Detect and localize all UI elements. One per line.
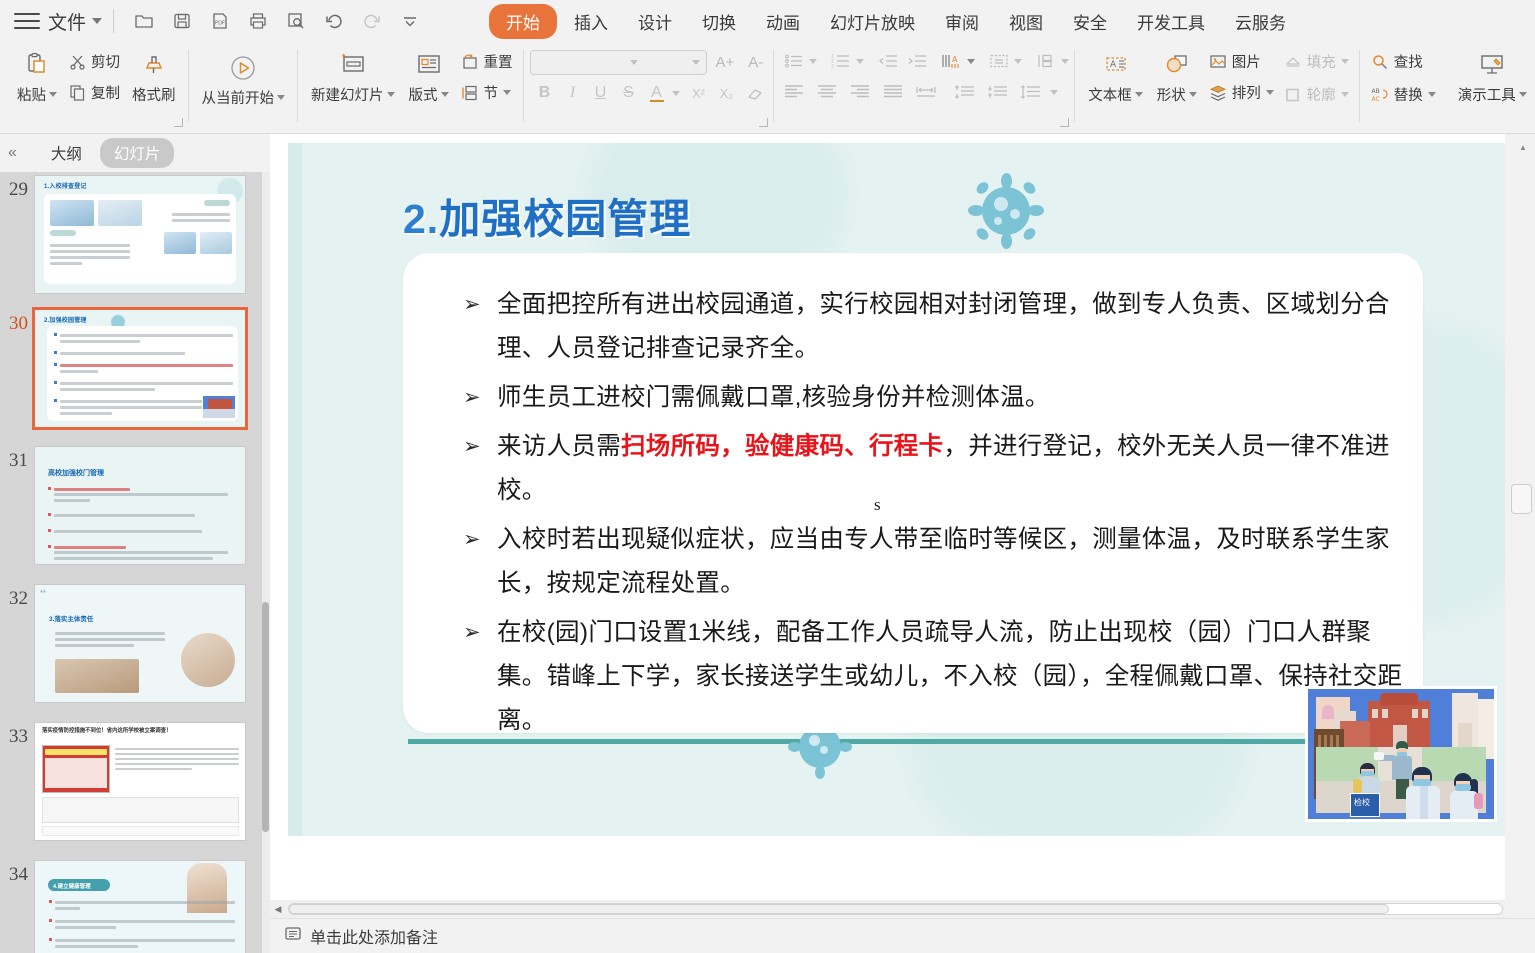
file-menu-button[interactable]: 文件 [48,8,102,35]
list-item[interactable]: 30 2.加强校园管理 [0,294,262,428]
list-item[interactable]: 33 落实疫情防控措施不到位！省内这所学校被立案调查！ [0,703,262,841]
customize-quick-access-icon[interactable] [395,6,425,36]
notes-icon [284,925,302,948]
new-slide-button[interactable]: 新建幻灯片 [304,42,402,105]
layout-icon [415,48,443,82]
font-dialog-launcher[interactable] [759,118,768,127]
chevron-down-icon [1519,92,1527,97]
tab-review[interactable]: 审阅 [932,4,992,39]
arrange-button[interactable]: 排列 [1204,79,1279,106]
format-painter-label: 格式刷 [132,84,176,105]
slide-editing-canvas[interactable]: 2.加强校园管理 [270,134,1505,900]
arrange-icon [1209,84,1227,102]
divider [113,9,114,33]
tab-outline[interactable]: 大纲 [37,138,96,168]
present-tools-icon [1477,48,1507,82]
justify-button[interactable] [879,81,906,103]
bullet-arrow-icon: ➢ [463,283,497,327]
chevron-down-icon [1135,92,1143,97]
copy-button[interactable]: 复制 [64,79,125,106]
arrange-label: 排列 [1232,82,1261,103]
align-right-button[interactable] [846,81,873,103]
bullet-text: 来访人员需扫场所码，验健康码、行程卡，并进行登记，校外无关人员一律不准进校。 [497,425,1403,513]
chevron-down-icon [1428,92,1436,97]
smartart-button[interactable] [1032,50,1059,72]
present-tools-label: 演示工具 [1458,84,1516,105]
chevron-down-icon [1189,92,1197,97]
tab-developer[interactable]: 开发工具 [1124,4,1218,39]
bullet-list[interactable]: ➢ 全面把控所有进出校园通道，实行校园相对封闭管理，做到专人负责、区域划分合理、… [463,283,1403,748]
ribbon-group-font: A+ A- B I U S A X² X₂ [524,42,775,134]
align-text-button[interactable] [985,50,1012,72]
paste-label: 粘贴 [17,84,46,105]
bullet-arrow-icon: ➢ [463,518,497,562]
tab-slides[interactable]: 幻灯片 [100,138,175,168]
slide-thumb-title: 落实疫情防控措施不到位！省内这所学校被立案调查！ [42,728,239,735]
list-item[interactable]: 34 4.建立健康管理 [0,841,262,953]
undo-icon[interactable] [319,6,349,36]
slide-thumb-title: 高校加强校门管理 [48,468,104,478]
fill-icon [1284,53,1302,71]
slide-thumb-body [49,898,235,953]
outline-label: 轮廓 [1307,84,1336,105]
font-color-button[interactable]: A [644,81,670,105]
tab-security[interactable]: 安全 [1060,4,1120,39]
chevron-down-icon[interactable] [809,59,817,64]
align-middle-button[interactable] [984,81,1011,103]
shape-icon [1163,48,1191,82]
textbox-label: 文本框 [1088,84,1132,105]
bold-button[interactable]: B [532,81,558,105]
section-icon [461,84,479,102]
text-direction-button[interactable]: A [938,50,965,72]
slides-panel-scrollbar[interactable] [262,172,270,953]
layout-button[interactable]: 版式 [402,42,456,105]
slide-number: 30 [4,309,34,335]
slide-number: 32 [4,584,34,610]
students-entering-school-illustration[interactable]: 检校 [1305,686,1497,822]
new-slide-label: 新建幻灯片 [311,84,384,105]
reset-label: 重置 [484,51,513,72]
textbox-icon: A [1102,48,1130,82]
title-number: 2. [403,196,439,242]
slide-thumb-body [47,326,238,421]
scissors-icon [69,53,86,70]
slide-thumbnail[interactable]: 1.入校排查登记 [34,175,246,294]
ribbon-group-slideshow: 从当前开始 [189,42,299,134]
ribbon-tab-strip: 开始 插入 设计 切换 动画 幻灯片放映 审阅 视图 安全 开发工具 云服务 [489,4,1299,39]
tab-cloud-service[interactable]: 云服务 [1222,4,1299,39]
scroll-left-icon[interactable]: ◀ [270,904,286,915]
virus-icon [968,173,1044,249]
increase-font-size-button[interactable]: A+ [711,54,740,71]
start-from-current-label: 从当前开始 [202,87,275,108]
format-painter-button[interactable]: 格式刷 [125,42,183,105]
replace-icon: ABAC [1371,86,1389,104]
slide-thumb-title: 2.加强校园管理 [44,315,87,324]
chevron-down-icon [387,92,395,97]
list-item[interactable]: 31 高校加强校门管理 [0,428,262,565]
right-rail: ▲ [1505,134,1535,900]
slides-panel-header: « 大纲 幻灯片 [0,134,270,172]
save-icon[interactable] [167,6,197,36]
slide-thumbnail[interactable]: 落实疫情防控措施不到位！省内这所学校被立案调查！ [34,722,246,841]
subscript-button[interactable]: X₂ [714,81,740,105]
search-icon [1371,53,1389,71]
fill-button[interactable]: 填充 [1279,48,1354,75]
right-rail-tool-button[interactable] [1511,484,1532,514]
svg-text:A: A [952,55,958,64]
stray-character: s [874,495,881,515]
tab-design[interactable]: 设计 [625,4,685,39]
bullet-text: 全面把控所有进出校园通道，实行校园相对封闭管理，做到专人负责、区域划分合理、人员… [497,283,1403,371]
chevron-down-icon[interactable] [672,91,680,96]
tab-start[interactable]: 开始 [489,4,557,39]
wps-presentation-window: 文件 PDF 开始 插入 设计 切 [0,0,1535,953]
ribbon-group-insert: A 文本框 形状 图片 排列 [1075,42,1360,134]
chevron-down-icon [630,60,638,65]
distribute-button[interactable] [912,81,939,103]
textbox-button[interactable]: A 文本框 [1081,42,1150,105]
list-item[interactable]: 32 ❛❛ 3.落实主体责任 [0,565,262,703]
slide-thumbnail[interactable]: ❛❛ 3.落实主体责任 [34,584,246,703]
print-icon[interactable] [243,6,273,36]
bullet-arrow-icon: ➢ [463,376,497,420]
insert-small-buttons: 图片 排列 [1204,42,1279,106]
slide-thumb-body [48,485,235,565]
present-tools-button[interactable]: 演示工具 [1451,42,1534,105]
picture-icon [1209,53,1227,71]
slide-thumb-title: 3.落实主体责任 [49,613,93,623]
tab-animation[interactable]: 动画 [753,4,813,39]
tab-view[interactable]: 视图 [996,4,1056,39]
copy-label: 复制 [91,82,120,103]
slide-thumb-title: 1.入校排查登记 [44,181,87,190]
font-color-swatch [650,100,664,103]
bullet-item[interactable]: ➢ 师生员工进校门需佩戴口罩,核验身份并检测体温。 [463,376,1403,420]
slide-thumbnail-list[interactable]: 29 1.入校排查登记 [0,172,262,953]
insert-disabled-buttons: 填充 轮廓 [1279,42,1354,108]
superscript-button[interactable]: X² [686,81,712,105]
bullet-text: 师生员工进校门需佩戴口罩,核验身份并检测体温。 [497,376,1050,420]
align-top-button[interactable] [951,81,978,103]
bullet-list-button[interactable] [780,50,807,72]
start-from-current-button[interactable]: 从当前开始 [195,42,293,108]
chevron-down-icon[interactable] [967,59,975,64]
slides-panel: « 大纲 幻灯片 29 1.入校排查登记 [0,134,270,953]
copy-icon [69,84,86,101]
scrollbar-track[interactable] [288,903,1503,915]
svg-text:AC: AC [1371,96,1379,103]
chevron-down-icon [1266,90,1274,95]
title-text: 加强校园管理 [439,196,691,242]
ribbon-group-editing: 查找 ABAC 替换 演示工具 选择 [1360,42,1535,134]
slide-number: 33 [4,722,34,748]
tab-slideshow[interactable]: 幻灯片放映 [817,4,928,39]
scrollbar-thumb[interactable] [289,904,1389,914]
chevron-down-icon [1341,59,1349,64]
numbered-list-button[interactable]: 123 [827,50,854,72]
replace-button[interactable]: ABAC 替换 [1366,81,1441,108]
bullet-arrow-icon: ➢ [463,425,497,469]
section-button[interactable]: 节 [456,79,518,106]
section-label: 节 [484,82,499,103]
slide-number: 31 [4,446,34,472]
chevron-down-icon [441,92,449,97]
strikethrough-button[interactable]: S [616,81,642,105]
shape-button[interactable]: 形状 [1150,42,1204,105]
outline-icon [1284,86,1302,104]
chevron-down-icon [92,18,102,24]
chevron-down-icon[interactable] [1050,90,1058,95]
paragraph-dialog-launcher[interactable] [1060,118,1069,127]
slide-thumbnail[interactable]: 高校加强校门管理 [34,446,246,565]
outline-button[interactable]: 轮廓 [1279,81,1354,108]
line-spacing-button[interactable] [1017,81,1044,103]
layout-label: 版式 [409,84,438,105]
tab-transition[interactable]: 切换 [689,4,749,39]
notes-placeholder: 单击此处添加备注 [310,924,438,948]
find-button[interactable]: 查找 [1366,48,1441,75]
align-left-button[interactable] [780,81,807,103]
bullet-item[interactable]: ➢ 来访人员需扫场所码，验健康码、行程卡，并进行登记，校外无关人员一律不准进校。 [463,425,1403,513]
chevron-down-icon [49,92,57,97]
svg-text:AB: AB [1371,88,1379,95]
svg-text:PDF: PDF [215,21,225,27]
chevron-down-icon [503,90,511,95]
menu-hamburger-icon[interactable] [14,13,40,29]
slide-thumb-title: 4.建立健康管理 [53,882,91,890]
current-slide[interactable]: 2.加强校园管理 [288,143,1507,836]
slide-thumb-body [55,629,165,650]
cut-label: 剪切 [91,51,120,72]
ribbon-group-slides: 新建幻灯片 版式 重置 节 [298,42,524,134]
slide-number: 29 [4,175,34,201]
reset-button[interactable]: 重置 [456,48,518,75]
bullet-text-highlight: 扫场所码，验健康码、行程卡 [621,433,943,460]
list-item[interactable]: 29 1.入校排查登记 [0,172,262,294]
italic-button[interactable]: I [560,81,586,105]
vertical-scrollbar[interactable] [1516,142,1530,892]
chevron-down-icon [1341,92,1349,97]
slide-thumbnail[interactable]: 4.建立健康管理 [34,860,246,953]
chevron-down-icon[interactable] [856,59,864,64]
collapse-panel-button[interactable]: « [8,144,15,162]
print-preview-icon[interactable] [281,6,311,36]
increase-indent-button[interactable] [903,50,930,72]
slide-thumbnail-selected[interactable]: 2.加强校园管理 [34,309,246,428]
picture-button[interactable]: 图片 [1204,48,1279,75]
format-painter-icon [141,48,167,82]
clipboard-dialog-launcher[interactable] [174,118,183,127]
decrease-indent-button[interactable] [874,50,901,72]
slide-thumb-body [44,194,236,284]
open-icon[interactable] [129,6,159,36]
bullet-item[interactable]: ➢ 在校(园)门口设置1米线，配备工作人员疏导人流，防止出现校（园）门口人群聚集… [463,611,1403,743]
slide-number: 34 [4,860,34,886]
export-pdf-icon[interactable]: PDF [205,6,235,36]
align-center-button[interactable] [813,81,840,103]
clipboard-small-buttons: 剪切 复制 [64,42,125,106]
frame-line-left [288,143,302,836]
chevron-down-icon [692,60,700,65]
chevron-down-icon [277,95,285,100]
ribbon-group-paragraph: 123 A [774,42,1075,134]
replace-label: 替换 [1394,84,1423,105]
tab-insert[interactable]: 插入 [561,4,621,39]
svg-text:A: A [1110,60,1117,70]
chevron-down-icon[interactable] [1014,59,1022,64]
clear-format-icon[interactable] [742,81,768,105]
play-circle-icon [228,51,258,85]
scrollbar-thumb[interactable] [262,602,269,832]
chevron-down-icon[interactable] [1061,59,1069,64]
redo-icon[interactable] [357,6,387,36]
font-family-select[interactable] [530,50,645,75]
fill-label: 填充 [1307,51,1336,72]
cut-button[interactable]: 剪切 [64,48,125,75]
illustration-sign-label: 检校 [1354,797,1370,808]
svg-text:3: 3 [831,64,834,70]
bullet-item[interactable]: ➢ 入校时若出现疑似症状，应当由专人带至临时等候区，测量体温，及时联系学生家长，… [463,518,1403,606]
shape-label: 形状 [1157,84,1186,105]
ribbon-toolbar: 粘贴 剪切 复制 格式刷 [0,42,1535,134]
reset-icon [461,53,479,71]
bullet-text: 在校(园)门口设置1米线，配备工作人员疏导人流，防止出现校（园）门口人群聚集。错… [497,611,1403,743]
paste-icon [24,48,50,82]
picture-label: 图片 [1232,51,1261,72]
ribbon-group-clipboard: 粘贴 剪切 复制 格式刷 [0,42,189,134]
find-replace-buttons: 查找 ABAC 替换 [1366,42,1441,108]
paste-button[interactable]: 粘贴 [10,42,64,105]
page-title[interactable]: 2.加强校园管理 [403,185,691,245]
font-size-select[interactable] [644,50,707,75]
panel-tab-strip: 大纲 幻灯片 [37,138,175,168]
bullet-item[interactable]: ➢ 全面把控所有进出校园通道，实行校园相对封闭管理，做到专人负责、区域划分合理、… [463,283,1403,371]
notes-pane[interactable]: 单击此处添加备注 [270,918,1535,953]
bullet-arrow-icon: ➢ [463,611,497,655]
new-slide-icon [338,48,368,82]
bullet-text: 入校时若出现疑似症状，应当由专人带至临时等候区，测量体温，及时联系学生家长，按规… [497,518,1403,606]
find-label: 查找 [1394,51,1423,72]
slides-small-buttons: 重置 节 [456,42,518,106]
underline-button[interactable]: U [588,81,614,105]
title-bar: 文件 PDF 开始 插入 设计 切 [0,0,1535,42]
bullet-text-plain: 来访人员需 [497,433,621,460]
horizontal-scrollbar[interactable]: ◀ [270,900,1505,918]
decrease-font-size-button[interactable]: A- [743,54,768,71]
file-menu-label: 文件 [48,8,86,35]
